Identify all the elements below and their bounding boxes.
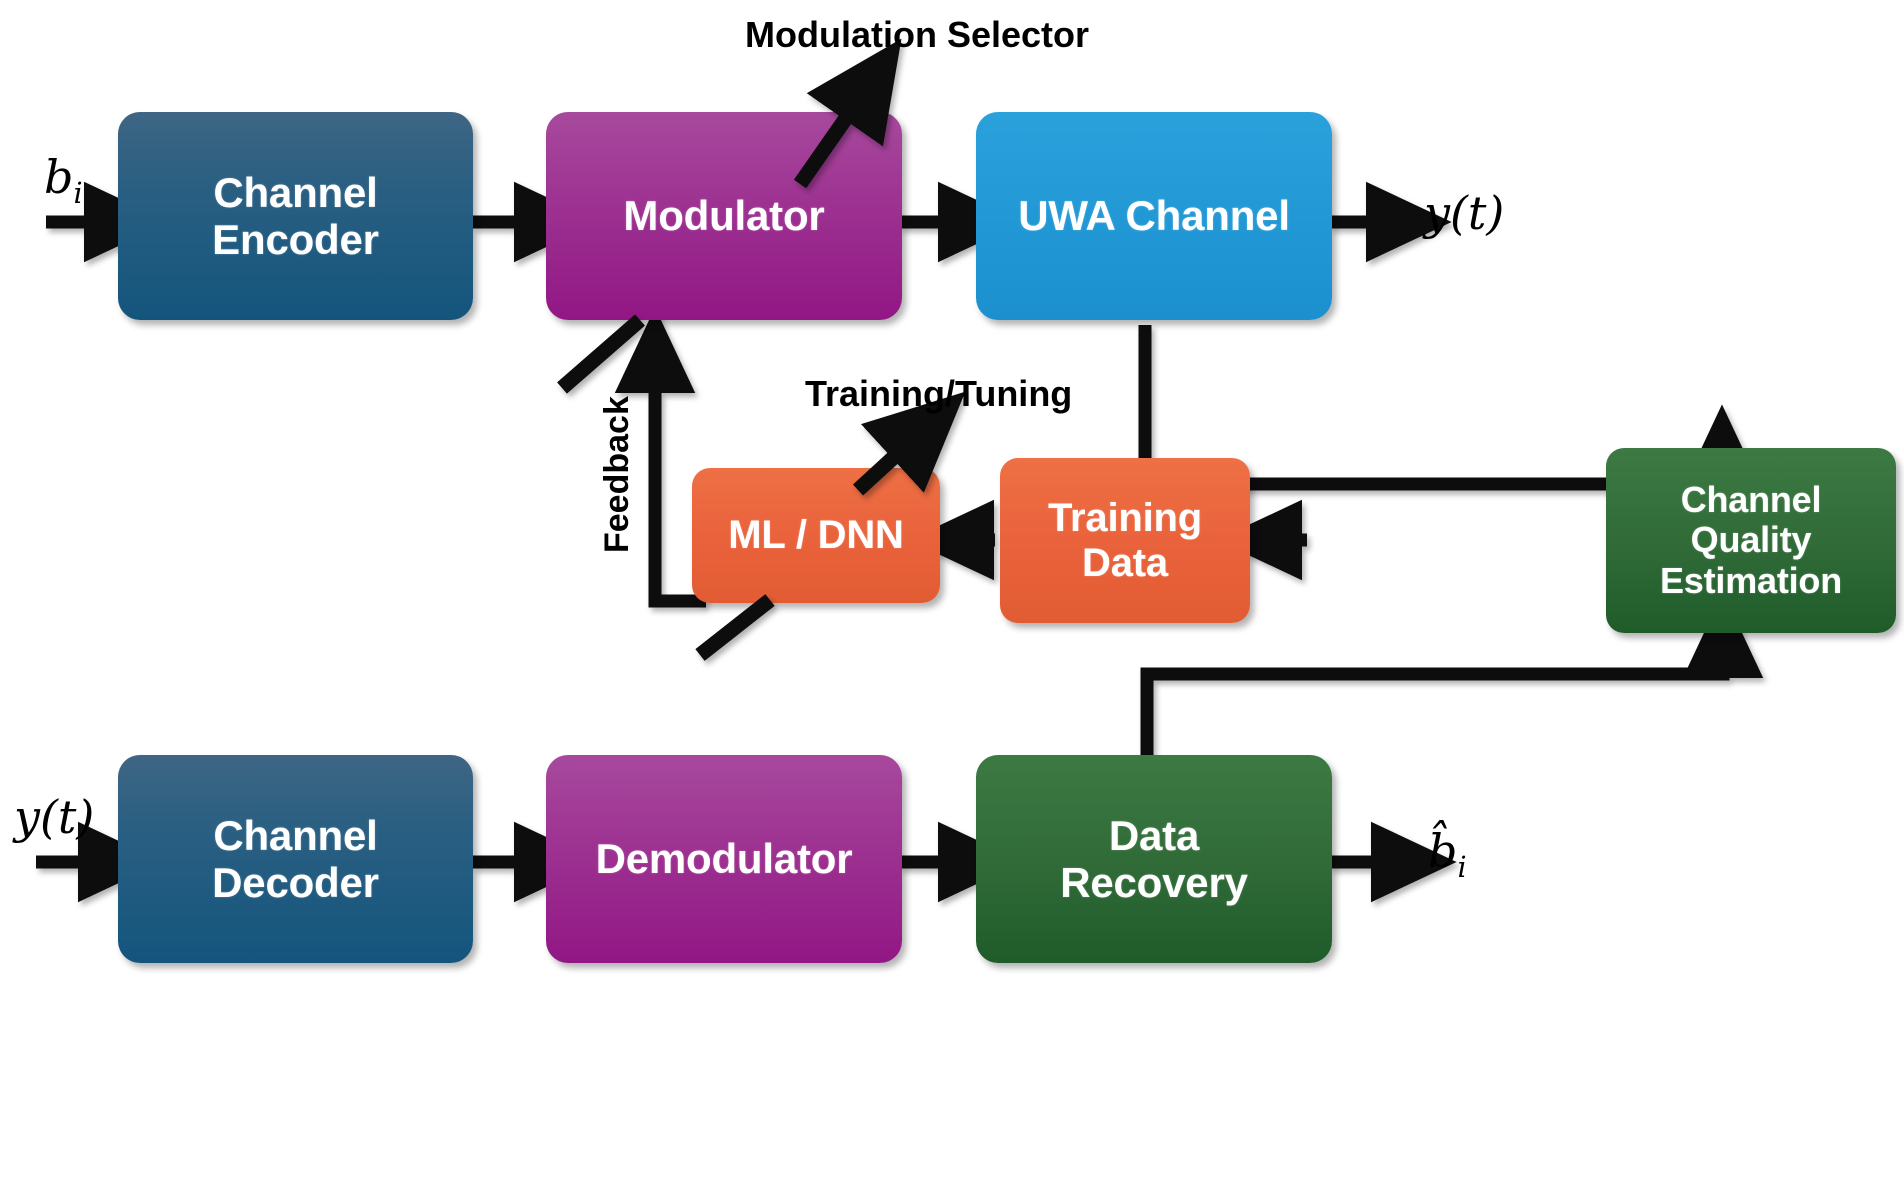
signal-receiver-input-yt: y(t) — [14, 790, 94, 844]
connector-overlay-layer — [0, 0, 1904, 1195]
annotation-feedback: Feedback — [598, 396, 637, 553]
wire-modulator-bottom-stub — [562, 320, 640, 388]
signal-input-bits: bi — [44, 150, 83, 210]
signal-channel-output-yt: y(t) — [1424, 186, 1504, 240]
wire-mldnn-bottom-stub — [700, 600, 770, 655]
diagram-canvas: ChannelEncoder Modulator UWA Channel Cha… — [0, 0, 1904, 1195]
annotation-training-tuning: Training/Tuning — [805, 373, 1072, 415]
signal-recovered-bits-bhat: b̂i — [1428, 824, 1467, 884]
wire-mldnn-to-training-tuning — [858, 424, 930, 490]
annotation-modulation-selector: Modulation Selector — [745, 14, 1089, 56]
wire-modulator-to-modulation-selector — [800, 78, 874, 184]
